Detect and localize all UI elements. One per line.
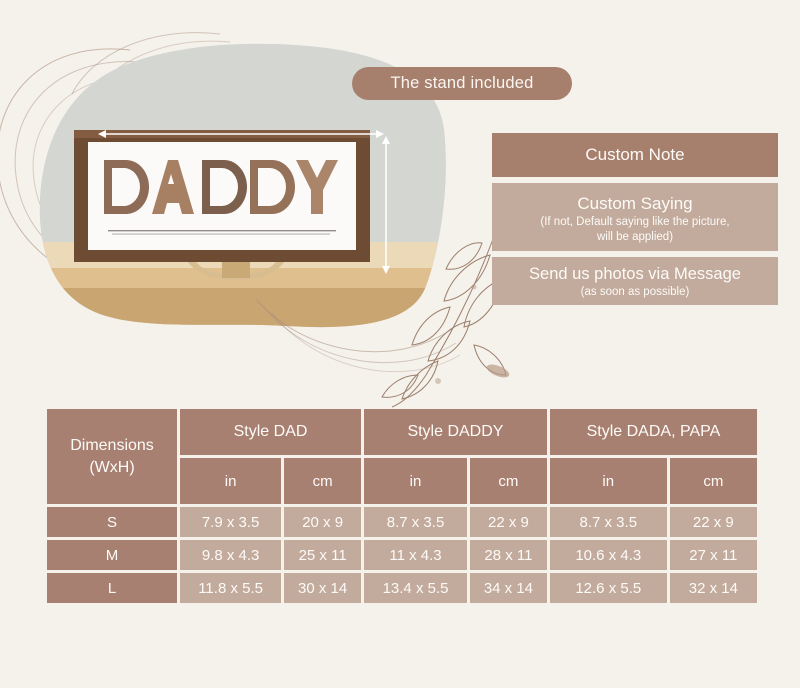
size-label-L: L xyxy=(47,573,177,603)
size-label-S: S xyxy=(47,507,177,537)
cell-S-in-0: 7.9 x 3.5 xyxy=(180,507,281,537)
info-box-subtitle: (If not, Default saying like the picture… xyxy=(534,215,735,245)
cell-M-in-0: 9.8 x 4.3 xyxy=(180,540,281,570)
cell-L-cm-1: 30 x 14 xyxy=(284,573,361,603)
cell-M-cm-1: 25 x 11 xyxy=(284,540,361,570)
cell-S-cm-5: 22 x 9 xyxy=(670,507,757,537)
unit-header-3: cm xyxy=(470,458,547,504)
unit-header-0: in xyxy=(180,458,281,504)
cell-M-in-4: 10.6 x 4.3 xyxy=(550,540,667,570)
info-box-custom-note: Custom Note xyxy=(492,133,778,177)
cell-L-cm-3: 34 x 14 xyxy=(470,573,547,603)
badge-label: The stand included xyxy=(390,74,533,93)
info-box-title: Custom Saying xyxy=(577,193,692,214)
table-row: L11.8 x 5.530 x 1413.4 x 5.534 x 1412.6 … xyxy=(47,573,757,603)
cell-S-cm-1: 20 x 9 xyxy=(284,507,361,537)
table-row: M9.8 x 4.325 x 1111 x 4.328 x 1110.6 x 4… xyxy=(47,540,757,570)
size-label-M: M xyxy=(47,540,177,570)
info-box-title: Custom Note xyxy=(585,144,684,165)
style-header-0: Style DAD xyxy=(180,409,361,455)
cell-L-in-0: 11.8 x 5.5 xyxy=(180,573,281,603)
cell-L-in-2: 13.4 x 5.5 xyxy=(364,573,467,603)
info-box-subtitle: (as soon as possible) xyxy=(575,285,696,300)
size-table: Dimensions(WxH)Style DADStyle DADDYStyle… xyxy=(44,406,760,606)
table-header-row-styles: Dimensions(WxH)Style DADStyle DADDYStyle… xyxy=(47,409,757,455)
style-header-2: Style DADA, PAPA xyxy=(550,409,757,455)
cell-L-cm-5: 32 x 14 xyxy=(670,573,757,603)
corner-dimensions-label: Dimensions(WxH) xyxy=(47,409,177,504)
stand-included-badge: The stand included xyxy=(352,67,572,100)
info-box-title: Send us photos via Message xyxy=(529,264,741,285)
corner-label-line2: (WxH) xyxy=(47,457,177,479)
info-box-custom-saying: Custom Saying (If not, Default saying li… xyxy=(492,183,778,251)
style-header-1: Style DADDY xyxy=(364,409,547,455)
cell-S-cm-3: 22 x 9 xyxy=(470,507,547,537)
page-root: The stand included Custom Note Custom Sa… xyxy=(0,0,800,688)
unit-header-5: cm xyxy=(670,458,757,504)
cell-M-in-2: 11 x 4.3 xyxy=(364,540,467,570)
info-boxes: Custom Note Custom Saying (If not, Defau… xyxy=(492,133,778,311)
corner-label-line1: Dimensions xyxy=(47,435,177,457)
unit-header-1: cm xyxy=(284,458,361,504)
cell-M-cm-5: 27 x 11 xyxy=(670,540,757,570)
unit-header-2: in xyxy=(364,458,467,504)
dimension-arrows xyxy=(96,118,396,288)
unit-header-4: in xyxy=(550,458,667,504)
cell-M-cm-3: 28 x 11 xyxy=(470,540,547,570)
cell-L-in-4: 12.6 x 5.5 xyxy=(550,573,667,603)
cell-S-in-4: 8.7 x 3.5 xyxy=(550,507,667,537)
info-box-send-photos: Send us photos via Message (as soon as p… xyxy=(492,257,778,305)
cell-S-in-2: 8.7 x 3.5 xyxy=(364,507,467,537)
table-row: S7.9 x 3.520 x 98.7 x 3.522 x 98.7 x 3.5… xyxy=(47,507,757,537)
